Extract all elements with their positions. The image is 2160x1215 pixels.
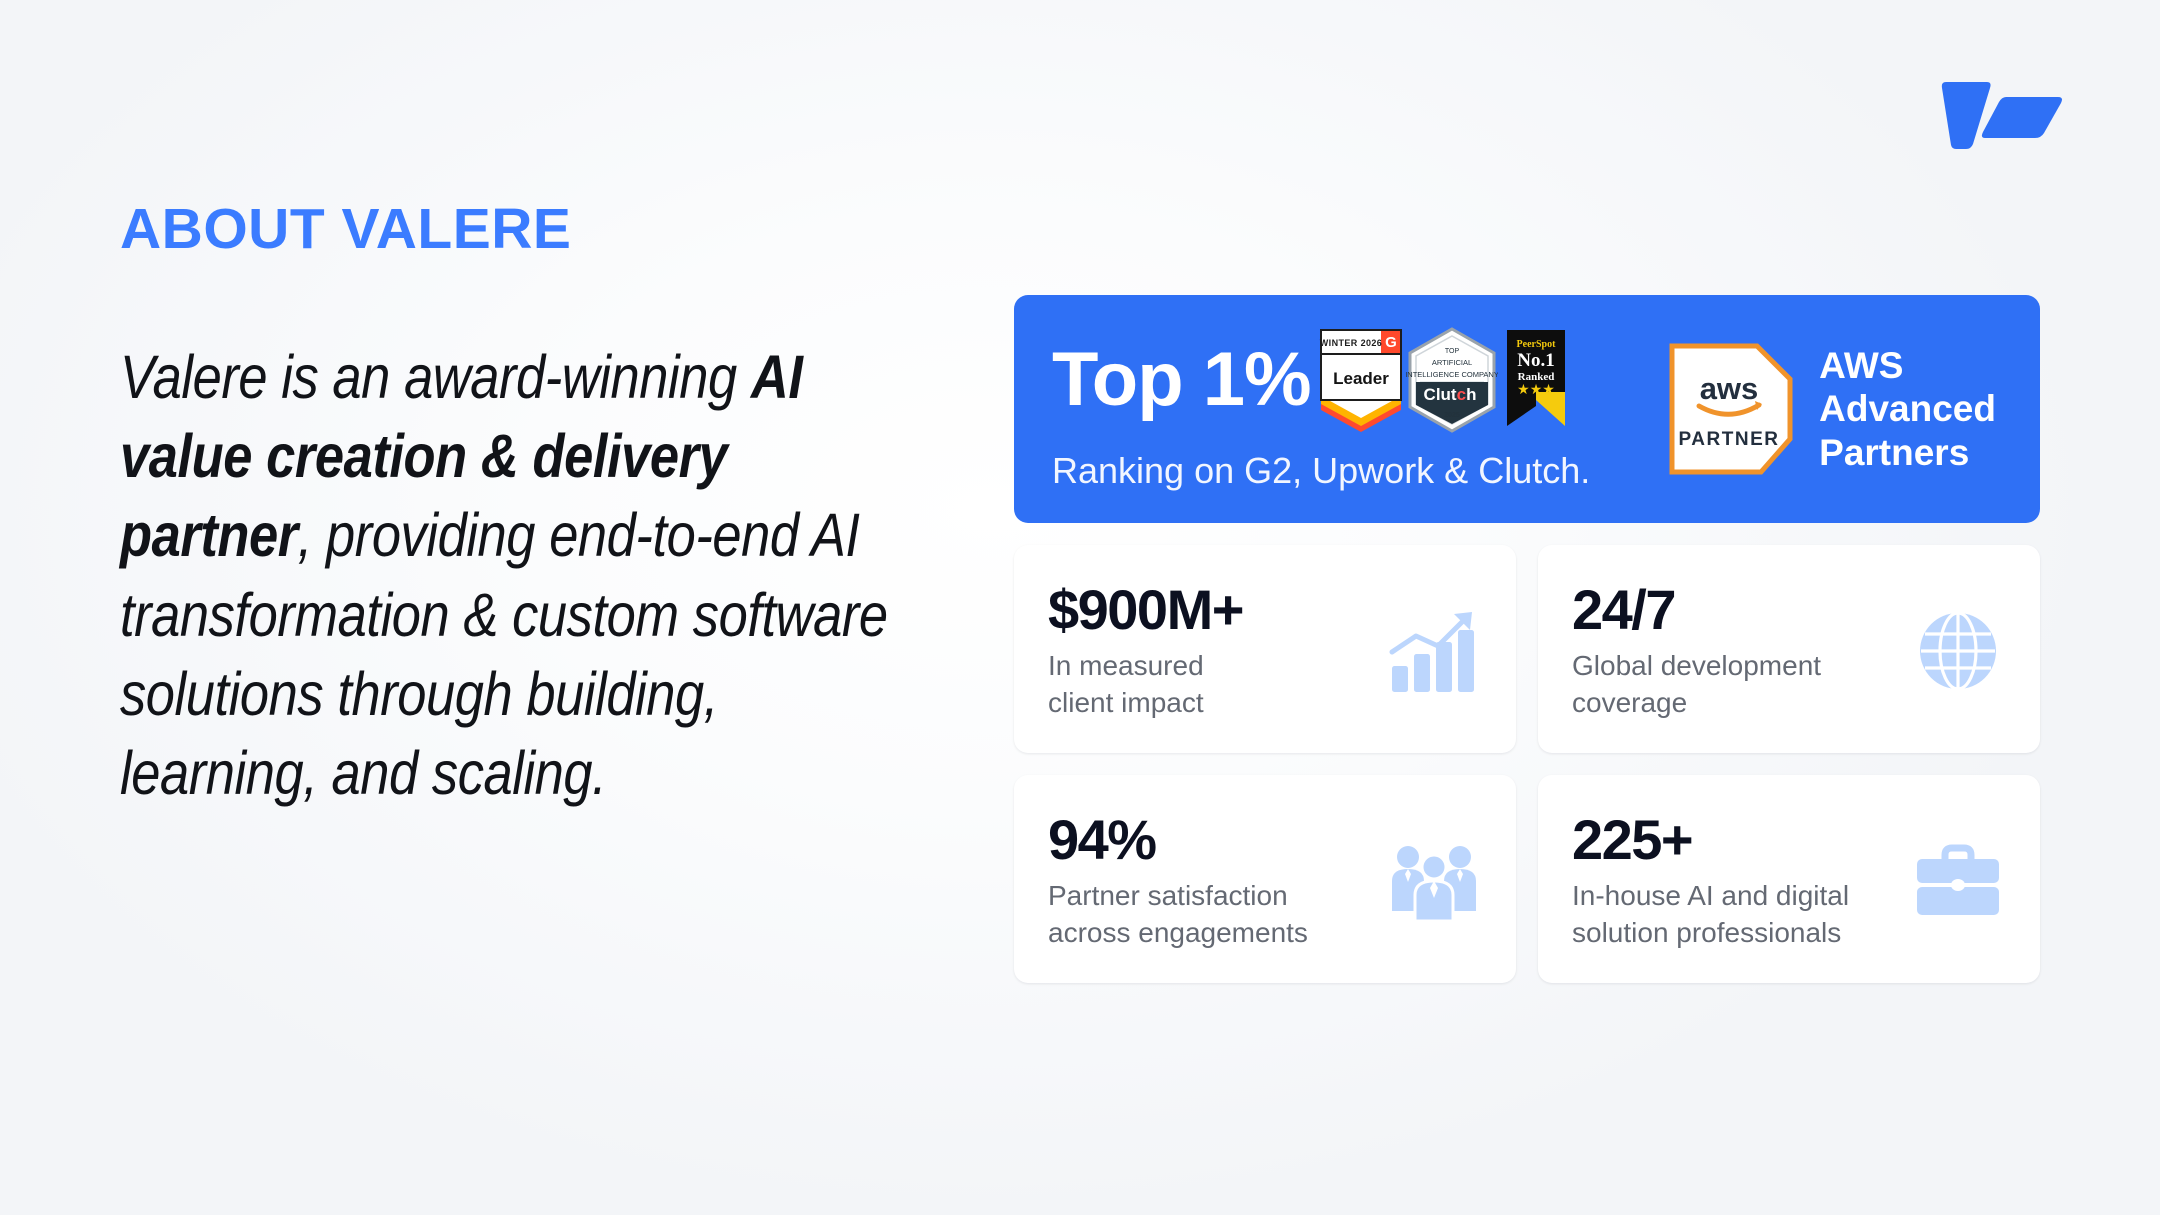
clutch-brand-label: Clutch <box>1423 385 1476 404</box>
briefcase-icon <box>1910 833 2006 929</box>
clutch-year-label: 2025 <box>1444 412 1460 419</box>
stat-label-line-1: In-house AI and digital <box>1572 878 1896 914</box>
stat-label-line-2: client impact <box>1048 685 1372 721</box>
stat-card-text: 225+ In-house AI and digital solution pr… <box>1572 811 1896 951</box>
stat-label-line-1: Partner satisfaction <box>1048 878 1372 914</box>
peerspot-stars: ★★★ <box>1517 381 1555 397</box>
stat-value: 24/7 <box>1572 581 1896 638</box>
stat-card-client-impact: $900M+ In measured client impact <box>1014 545 1516 753</box>
about-paragraph: Valere is an award-winning AI value crea… <box>120 338 918 814</box>
stat-value: $900M+ <box>1048 581 1372 638</box>
valere-v-logo-icon <box>1940 78 2068 150</box>
g2-leader-badge-icon: G WINTER 2026 Leader <box>1319 328 1403 432</box>
stat-label: Global development coverage <box>1572 648 1896 721</box>
banner-subtext: Ranking on G2, Upwork & Clutch. <box>1052 451 1590 491</box>
aws-partner-group: aws PARTNER AWS Advanced Partners <box>1669 343 2006 475</box>
clutch-top-ai-badge-icon: TOP ARTIFICIAL INTELLIGENCE COMPANY Clut… <box>1406 327 1498 433</box>
aws-partner-badge-icon: aws PARTNER <box>1669 343 1793 475</box>
globe-icon <box>1910 603 2006 699</box>
stat-label-line-1: In measured <box>1048 648 1372 684</box>
aws-label-line-1: AWS <box>1819 344 1996 388</box>
peerspot-no1-badge-icon: PeerSpot No.1 Ranked ★★★ <box>1501 328 1571 432</box>
stat-card-global-coverage: 24/7 Global development coverage <box>1538 545 2040 753</box>
clutch-line-1: TOP <box>1444 348 1459 355</box>
stat-value: 94% <box>1048 811 1372 868</box>
stat-label: In measured client impact <box>1048 648 1372 721</box>
stat-card-grid: $900M+ In measured client impact <box>1014 545 2040 983</box>
stat-label-line-1: Global development <box>1572 648 1896 684</box>
about-section: ABOUT VALERE Valere is an award-winning … <box>120 200 920 814</box>
aws-advanced-partners-label: AWS Advanced Partners <box>1819 344 1996 475</box>
award-badge-row: G WINTER 2026 Leader TOP ARTIFICIAL INTE… <box>1319 327 1571 433</box>
peerspot-line-1: PeerSpot <box>1516 339 1556 350</box>
stat-card-text: 94% Partner satisfaction across engageme… <box>1048 811 1372 951</box>
aws-label-line-2: Advanced <box>1819 387 1996 431</box>
clutch-line-3: INTELLIGENCE COMPANY <box>1406 370 1498 379</box>
stat-label-line-2: across engagements <box>1048 915 1372 951</box>
stat-card-text: 24/7 Global development coverage <box>1572 581 1896 721</box>
people-group-icon <box>1386 833 1482 929</box>
clutch-line-2: ARTIFICIAL <box>1431 358 1471 367</box>
aws-label-line-3: Partners <box>1819 431 1996 475</box>
top-ranking-banner: Top 1% G WINTER 2026 Leader <box>1014 295 2040 523</box>
aws-partner-label: PARTNER <box>1679 429 1780 450</box>
stat-label-line-2: coverage <box>1572 685 1896 721</box>
banner-headline-row: Top 1% G WINTER 2026 Leader <box>1052 327 1590 433</box>
stat-card-professionals: 225+ In-house AI and digital solution pr… <box>1538 775 2040 983</box>
g2-title-label: Leader <box>1333 369 1389 388</box>
banner-left-group: Top 1% G WINTER 2026 Leader <box>1052 327 1590 491</box>
stat-value: 225+ <box>1572 811 1896 868</box>
stat-label-line-2: solution professionals <box>1572 915 1896 951</box>
stat-card-text: $900M+ In measured client impact <box>1048 581 1372 721</box>
credentials-panel: Top 1% G WINTER 2026 Leader <box>1014 295 2040 983</box>
stat-label: In-house AI and digital solution profess… <box>1572 878 1896 951</box>
growth-bar-chart-icon <box>1386 603 1482 699</box>
svg-text:G: G <box>1385 334 1397 351</box>
stat-card-partner-satisfaction: 94% Partner satisfaction across engageme… <box>1014 775 1516 983</box>
aws-wordmark: aws <box>1700 371 1759 406</box>
peerspot-line-2: No.1 <box>1517 350 1554 371</box>
banner-headline: Top 1% <box>1052 342 1311 418</box>
stat-label: Partner satisfaction across engagements <box>1048 878 1372 951</box>
paragraph-part-1: Valere is an award-winning <box>120 343 751 411</box>
page-title: ABOUT VALERE <box>120 200 920 260</box>
g2-season-label: WINTER 2026 <box>1319 338 1381 348</box>
valere-logo <box>1940 78 2068 150</box>
